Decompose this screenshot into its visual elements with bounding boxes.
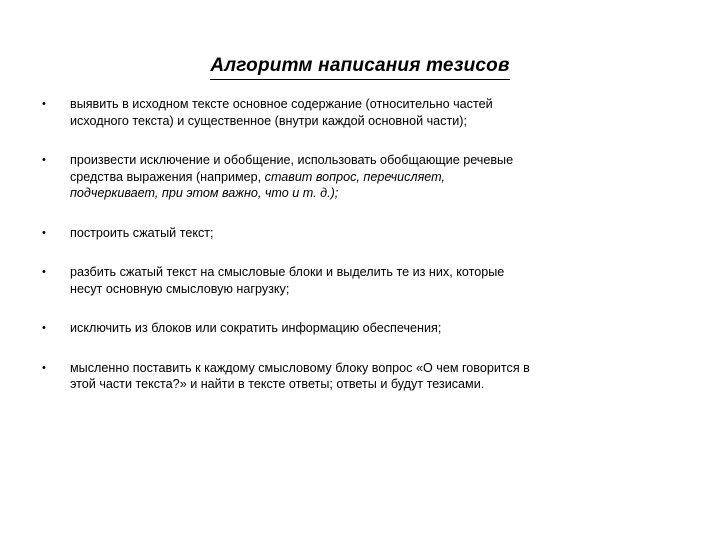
- list-item-line: построить сжатый текст;: [70, 225, 686, 242]
- bullet-point-icon: •: [42, 264, 54, 281]
- list-item-text: построить сжатый текст;: [70, 225, 686, 242]
- list-item-text: исключить из блоков или сократить информ…: [70, 320, 686, 337]
- list-item-text: выявить в исходном тексте основное содер…: [70, 96, 686, 129]
- list-item-line: подчеркивает, при этом важно, что и т. д…: [70, 185, 686, 202]
- list-item-line: несут основную смысловую нагрузку;: [70, 281, 686, 298]
- list-item-text: мысленно поставить к каждому смысловому …: [70, 360, 686, 393]
- plain-text: построить сжатый текст;: [70, 226, 214, 240]
- plain-text: этой части текста?» и найти в тексте отв…: [70, 377, 484, 391]
- list-item: •мысленно поставить к каждому смысловому…: [38, 360, 686, 393]
- plain-text: исключить из блоков или сократить информ…: [70, 321, 441, 335]
- plain-text: разбить сжатый текст на смысловые блоки …: [70, 265, 504, 279]
- bullet-list: •выявить в исходном тексте основное соде…: [38, 96, 686, 393]
- plain-text: выявить в исходном тексте основное содер…: [70, 97, 493, 111]
- list-item: •исключить из блоков или сократить инфор…: [38, 320, 686, 337]
- plain-text: несут основную смысловую нагрузку;: [70, 282, 289, 296]
- page-title: Алгоритм написания тезисов: [0, 54, 720, 80]
- list-item-text: произвести исключение и обобщение, испол…: [70, 152, 686, 202]
- list-item-line: исключить из блоков или сократить информ…: [70, 320, 686, 337]
- slide-canvas: Алгоритм написания тезисов •выявить в ис…: [0, 0, 720, 540]
- list-item-line: средства выражения (например, ставит воп…: [70, 169, 686, 186]
- list-item: •произвести исключение и обобщение, испо…: [38, 152, 686, 202]
- list-item-line: этой части текста?» и найти в тексте отв…: [70, 376, 686, 393]
- bullet-point-icon: •: [42, 225, 54, 242]
- list-item: •построить сжатый текст;: [38, 225, 686, 242]
- bullet-point-icon: •: [42, 152, 54, 169]
- list-item: •выявить в исходном тексте основное соде…: [38, 96, 686, 129]
- bullet-point-icon: •: [42, 320, 54, 337]
- bullet-point-icon: •: [42, 96, 54, 113]
- plain-text: произвести исключение и обобщение, испол…: [70, 153, 513, 167]
- plain-text: мысленно поставить к каждому смысловому …: [70, 361, 530, 375]
- emphasis-text: подчеркивает, при этом важно, что и т. д…: [70, 186, 338, 200]
- list-item-line: произвести исключение и обобщение, испол…: [70, 152, 686, 169]
- plain-text: исходного текста) и существенное (внутри…: [70, 114, 467, 128]
- list-item-line: мысленно поставить к каждому смысловому …: [70, 360, 686, 377]
- page-title-text: Алгоритм написания тезисов: [210, 54, 509, 80]
- list-item-line: выявить в исходном тексте основное содер…: [70, 96, 686, 113]
- list-item-line: разбить сжатый текст на смысловые блоки …: [70, 264, 686, 281]
- emphasis-text: ставит вопрос, перечисляет,: [265, 170, 445, 184]
- list-item-line: исходного текста) и существенное (внутри…: [70, 113, 686, 130]
- bullet-point-icon: •: [42, 360, 54, 377]
- list-item: •разбить сжатый текст на смысловые блоки…: [38, 264, 686, 297]
- plain-text: средства выражения (например,: [70, 170, 265, 184]
- list-item-text: разбить сжатый текст на смысловые блоки …: [70, 264, 686, 297]
